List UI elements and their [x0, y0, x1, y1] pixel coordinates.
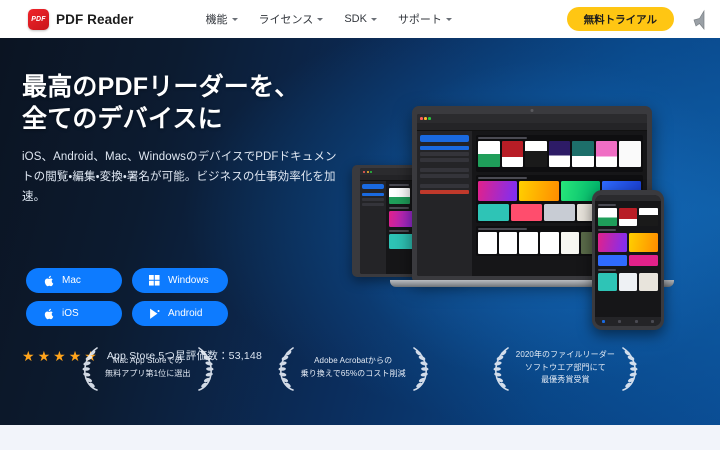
page-title: 最高のPDFリーダーを、 全てのデバイスに — [22, 71, 352, 135]
award-line: Mac App Storeでの — [105, 355, 191, 368]
download-mac-button[interactable]: Mac — [26, 268, 122, 293]
award-line: 乗り換えで65%のコスト削減 — [301, 368, 406, 381]
nav-label: SDK — [344, 13, 367, 25]
nav-item-sdk[interactable]: SDK — [344, 13, 377, 25]
apple-icon — [42, 307, 54, 320]
brand-logo[interactable]: PDF PDF Reader — [28, 9, 134, 30]
laurel-wreath-icon — [490, 344, 512, 392]
award-text: Adobe Acrobatからの 乗り換えで65%のコスト削減 — [301, 355, 406, 381]
laurel-wreath-icon — [619, 344, 641, 392]
laurel-wreath-icon — [275, 344, 297, 392]
chevron-down-icon — [446, 18, 452, 21]
download-android-button[interactable]: Android — [132, 301, 228, 326]
nav-label: ライセンス — [259, 11, 314, 27]
download-ios-button[interactable]: iOS — [26, 301, 122, 326]
chevron-down-icon — [371, 18, 377, 21]
apple-icon — [42, 274, 54, 287]
windows-icon — [148, 274, 160, 287]
nav-label: 機能 — [206, 11, 228, 27]
laurel-wreath-icon — [410, 344, 432, 392]
download-windows-button[interactable]: Windows — [132, 268, 228, 293]
award-line: ソフトウエア部門にて — [516, 362, 615, 375]
chevron-down-icon — [232, 18, 238, 21]
award-line: 無料アプリ第1位に選出 — [105, 368, 191, 381]
brand-name: PDF Reader — [56, 12, 134, 27]
download-label: Mac — [62, 275, 81, 286]
phone-device-mockup — [592, 190, 664, 330]
hero-section: 最高のPDFリーダーを、 全てのデバイスに iOS、Android、Mac、Wi… — [0, 38, 720, 425]
award-text: Mac App Storeでの 無料アプリ第1位に選出 — [105, 355, 191, 381]
landing-page: PDF PDF Reader 機能 ライセンス SDK サポート 無料トライアル — [0, 0, 720, 450]
nav-item-features[interactable]: 機能 — [206, 11, 238, 27]
chevron-down-icon — [317, 18, 323, 21]
download-label: iOS — [62, 308, 79, 319]
nav-item-license[interactable]: ライセンス — [259, 11, 324, 27]
headline-line-1: 最高のPDFリーダーを、 — [22, 73, 299, 101]
phone-tab-bar — [595, 317, 661, 326]
award-text: 2020年のファイルリーダー ソフトウエア部門にて 最優秀賞受賞 — [516, 349, 615, 388]
site-header: PDF PDF Reader 機能 ライセンス SDK サポート 無料トライアル — [0, 0, 720, 38]
download-label: Android — [168, 308, 202, 319]
headline-line-2: 全てのデバイスに — [22, 105, 223, 133]
webcam-icon — [531, 109, 534, 112]
main-navigation: 機能 ライセンス SDK サポート — [206, 11, 452, 27]
nav-item-support[interactable]: サポート — [398, 11, 452, 27]
award-line: 2020年のファイルリーダー — [516, 349, 615, 362]
device-mockups — [352, 98, 702, 333]
award-badge-acrobat-savings: Adobe Acrobatからの 乗り換えで65%のコスト削減 — [275, 344, 432, 392]
mouse-cursor-arrow-icon — [690, 9, 708, 31]
laurel-wreath-icon — [195, 344, 217, 392]
download-buttons: Mac Windows iOS — [26, 268, 228, 326]
award-line: Adobe Acrobatからの — [301, 355, 406, 368]
page-footer-strip — [0, 425, 720, 450]
award-line: 最優秀賞受賞 — [516, 374, 615, 387]
nav-label: サポート — [398, 11, 442, 27]
free-trial-button[interactable]: 無料トライアル — [567, 7, 674, 31]
awards-row: Mac App Storeでの 無料アプリ第1位に選出 — [0, 344, 720, 392]
hero-subcopy: iOS、Android、Mac、WindowsのデバイスでPDFドキュメントの閲… — [22, 148, 340, 207]
pdf-logo-icon: PDF — [28, 9, 49, 30]
download-label: Windows — [168, 275, 209, 286]
award-badge-2020-best-software: 2020年のファイルリーダー ソフトウエア部門にて 最優秀賞受賞 — [490, 344, 641, 392]
award-badge-mac-app-store: Mac App Storeでの 無料アプリ第1位に選出 — [79, 344, 217, 392]
google-play-icon — [148, 307, 160, 320]
hero-copy: 最高のPDFリーダーを、 全てのデバイスに iOS、Android、Mac、Wi… — [22, 71, 352, 207]
laurel-wreath-icon — [79, 344, 101, 392]
pdf-logo-text: PDF — [31, 16, 46, 23]
